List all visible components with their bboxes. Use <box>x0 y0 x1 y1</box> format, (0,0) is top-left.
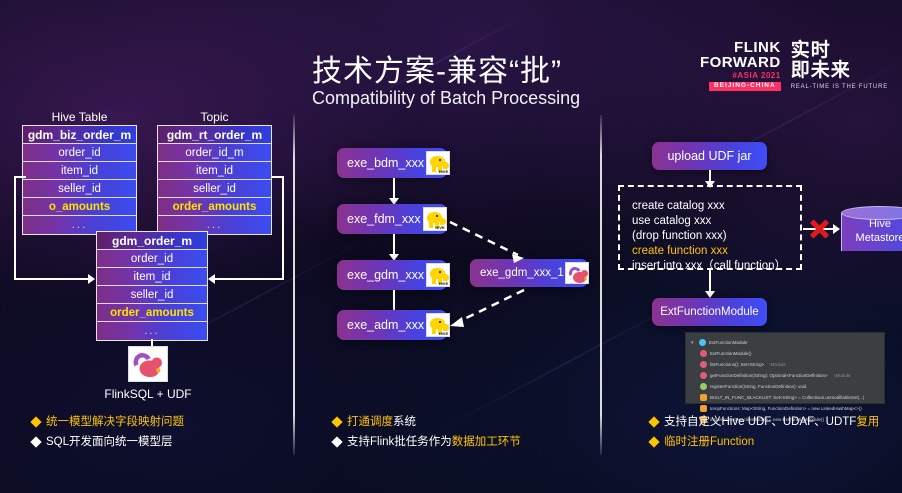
ide-row-label: getFunctionDefinition(String): Optional<… <box>710 373 828 378</box>
arrowhead-icon <box>833 224 840 234</box>
page-title-cn: 技术方案-兼容“批” <box>312 46 562 90</box>
right-bullets: 支持自定义Hive UDF、UDAF、UDTF复用 临时注册Function <box>650 412 879 452</box>
hadoop-icon: HIVE <box>426 263 450 287</box>
flinksql-caption: FlinkSQL + UDF <box>88 387 208 401</box>
logo-line-forward: FORWARD <box>700 55 781 70</box>
table-row: gdm_order_m <box>97 232 207 250</box>
node-label: exe_fdm_xxx <box>337 212 421 226</box>
list-item: 支持自定义Hive UDF、UDAF、UDTF复用 <box>650 412 879 432</box>
table-row: item_id <box>23 162 136 180</box>
event-logo: FLINK FORWARD #ASIA 2021 BEIJING-CHINA 实… <box>700 40 888 91</box>
list-item[interactable]: ▾ ExtFunctionModule <box>691 337 879 348</box>
connector-topic-to-unified <box>272 176 284 280</box>
bullet-text: 统一模型解决字段映射问题 <box>46 412 184 432</box>
ide-row-label: listFunctions(): Set<String> <box>710 362 764 367</box>
table-row: item_id <box>97 268 207 286</box>
node-exe-fdm[interactable]: exe_fdm_xxx HIVE <box>337 204 447 234</box>
bullet-text: 临时注册Function <box>664 432 754 452</box>
list-item[interactable]: BUILT_IN_FUNC_BLACKLIST: Set<String> = C… <box>691 392 879 403</box>
ext-function-module-box[interactable]: ExtFunctionModule <box>652 298 767 326</box>
table-row-highlight: order_amounts <box>158 198 271 216</box>
column-divider-left <box>293 115 295 455</box>
page-title-en: Compatibility of Batch Processing <box>312 88 580 109</box>
node-label: exe_bdm_xxx <box>337 156 424 170</box>
bullet-text: 打通调度系统 <box>347 412 416 432</box>
sql-line: (drop function xxx) <box>632 229 800 244</box>
list-item: SQL开发面向统一模型层 <box>32 432 184 452</box>
sql-statement-block: create catalog xxx use catalog xxx (drop… <box>618 185 802 270</box>
connector-hive-to-unified-stem <box>14 278 90 280</box>
flinksql-logo <box>128 346 168 382</box>
blocked-x-icon <box>808 218 830 240</box>
method-icon <box>700 372 707 379</box>
diamond-bullet-icon <box>331 416 342 427</box>
module-box-label: ExtFunctionModule <box>660 306 758 318</box>
left-bullets: 统一模型解决字段映射问题 SQL开发面向统一模型层 <box>32 412 184 452</box>
diamond-bullet-icon <box>648 436 659 447</box>
table-row: order_id <box>23 144 136 162</box>
bullet-text: 支持自定义Hive UDF、UDAF、UDTF复用 <box>664 412 879 432</box>
node-exe-gdm[interactable]: exe_gdm_xxx HIVE <box>337 260 447 290</box>
logo-line-asia: #ASIA 2021 <box>732 72 780 80</box>
logo-line-flink: FLINK <box>734 40 781 55</box>
ide-row-tail: ↑Module <box>768 362 785 367</box>
hadoop-icon: HIVE <box>426 313 450 337</box>
node-label: exe_gdm_xxx <box>337 268 424 282</box>
squirrel-accent <box>156 368 161 373</box>
hive-table-header: Hive Table <box>22 110 137 124</box>
node-exe-bdm[interactable]: exe_bdm_xxx HIVE <box>337 148 447 178</box>
list-item: 统一模型解决字段映射问题 <box>32 412 184 432</box>
table-topic: gdm_rt_order_m order_id_m item_id seller… <box>157 125 272 235</box>
ide-structure-panel[interactable]: ▾ ExtFunctionModule ExtFunctionModule() … <box>685 332 885 404</box>
arrowhead-icon <box>88 274 95 284</box>
flink-squirrel-icon <box>568 265 586 281</box>
list-item: 临时注册Function <box>650 432 879 452</box>
logo-cn-line2: 即未来 <box>791 61 888 81</box>
field-icon <box>700 394 707 401</box>
logo-cn-line1: 实时 <box>791 41 888 61</box>
diamond-bullet-icon <box>30 436 41 447</box>
sql-line-highlight: create function xxx <box>632 244 800 259</box>
logo-tagline: REAL-TIME IS THE FUTURE <box>791 84 888 90</box>
list-item[interactable]: registerFunction(String, FunctionDefinit… <box>691 381 879 392</box>
table-row: item_id <box>158 162 271 180</box>
diamond-bullet-icon <box>331 436 342 447</box>
logo-line-city: BEIJING-CHINA <box>709 82 781 91</box>
connector-topic-to-unified-stem <box>214 278 284 280</box>
bullet-text: SQL开发面向统一模型层 <box>46 432 173 452</box>
table-row: order_id_m <box>158 144 271 162</box>
node-label: exe_adm_xxx <box>337 318 424 332</box>
field-icon <box>700 405 707 412</box>
table-row: gdm_rt_order_m <box>158 126 271 144</box>
table-row: order_id <box>97 250 207 268</box>
ide-row-label: ExtFunctionModule <box>709 340 748 345</box>
connector-hive-to-unified <box>14 176 26 280</box>
method-icon <box>700 350 707 357</box>
table-row: seller_id <box>97 286 207 304</box>
list-item: 支持Flink批任务作为数据加工环节 <box>333 432 521 452</box>
ide-row-label: BUILT_IN_FUNC_BLACKLIST: Set<String> = C… <box>710 395 864 400</box>
arrowhead-icon <box>208 274 215 284</box>
squirrel-head <box>152 358 163 369</box>
metastore-label: Hive Metastore <box>841 217 902 245</box>
realtime-wordmark: 实时 即未来 REAL-TIME IS THE FUTURE <box>791 41 888 90</box>
bullet-text: 支持Flink批任务作为数据加工环节 <box>347 432 521 452</box>
diamond-bullet-icon <box>30 416 41 427</box>
node-label: exe_gdm_xxx_1 <box>470 267 564 279</box>
method-icon <box>700 383 707 390</box>
table-row: ... <box>97 322 207 340</box>
diamond-bullet-icon <box>648 416 659 427</box>
table-row-highlight: o_amounts <box>23 198 136 216</box>
table-row: seller_id <box>23 180 136 198</box>
ide-row-label: ExtFunctionModule() <box>710 351 752 356</box>
table-row: gdm_biz_order_m <box>23 126 136 144</box>
sql-line: create catalog xxx <box>632 199 800 214</box>
hadoop-icon: HIVE <box>426 151 450 175</box>
class-icon <box>699 339 706 346</box>
table-row-highlight: order_amounts <box>97 304 207 322</box>
table-row: seller_id <box>158 180 271 198</box>
middle-bullets: 打通调度系统 支持Flink批任务作为数据加工环节 <box>333 412 521 452</box>
flink-icon <box>565 262 589 284</box>
arrowhead-icon <box>705 291 715 298</box>
sql-line: use catalog xxx <box>632 214 800 229</box>
topic-header: Topic <box>157 110 272 124</box>
node-exe-adm[interactable]: exe_adm_xxx HIVE <box>337 310 447 340</box>
sql-line: insert into xxx（call function） <box>632 259 800 274</box>
hive-metastore-db: Hive Metastore <box>841 206 902 258</box>
list-item[interactable]: getFunctionDefinition(String): Optional<… <box>691 370 879 381</box>
upload-udf-jar-box[interactable]: upload UDF jar <box>652 142 767 170</box>
ide-row-label: tempFunctions: Map<String, FunctionDefin… <box>710 406 862 411</box>
hadoop-icon: HIVE <box>423 207 447 231</box>
ide-row-tail: ↑Module <box>833 373 850 378</box>
flink-forward-wordmark: FLINK FORWARD #ASIA 2021 BEIJING-CHINA <box>700 40 781 91</box>
upload-box-label: upload UDF jar <box>667 149 751 163</box>
node-exe-gdm-1[interactable]: exe_gdm_xxx_1 <box>470 259 588 287</box>
table-hive: gdm_biz_order_m order_id item_id seller_… <box>22 125 137 235</box>
method-icon <box>700 361 707 368</box>
list-item[interactable]: listFunctions(): Set<String> ↑Module <box>691 359 879 370</box>
ide-row-label: registerFunction(String, FunctionDefinit… <box>710 384 806 389</box>
table-unified: gdm_order_m order_id item_id seller_id o… <box>96 231 208 341</box>
list-item: 打通调度系统 <box>333 412 521 432</box>
list-item[interactable]: ExtFunctionModule() <box>691 348 879 359</box>
chevron-down-icon[interactable]: ▾ <box>691 340 696 346</box>
column-divider-right <box>600 115 602 455</box>
slide-canvas: 技术方案-兼容“批” Compatibility of Batch Proces… <box>0 0 902 493</box>
